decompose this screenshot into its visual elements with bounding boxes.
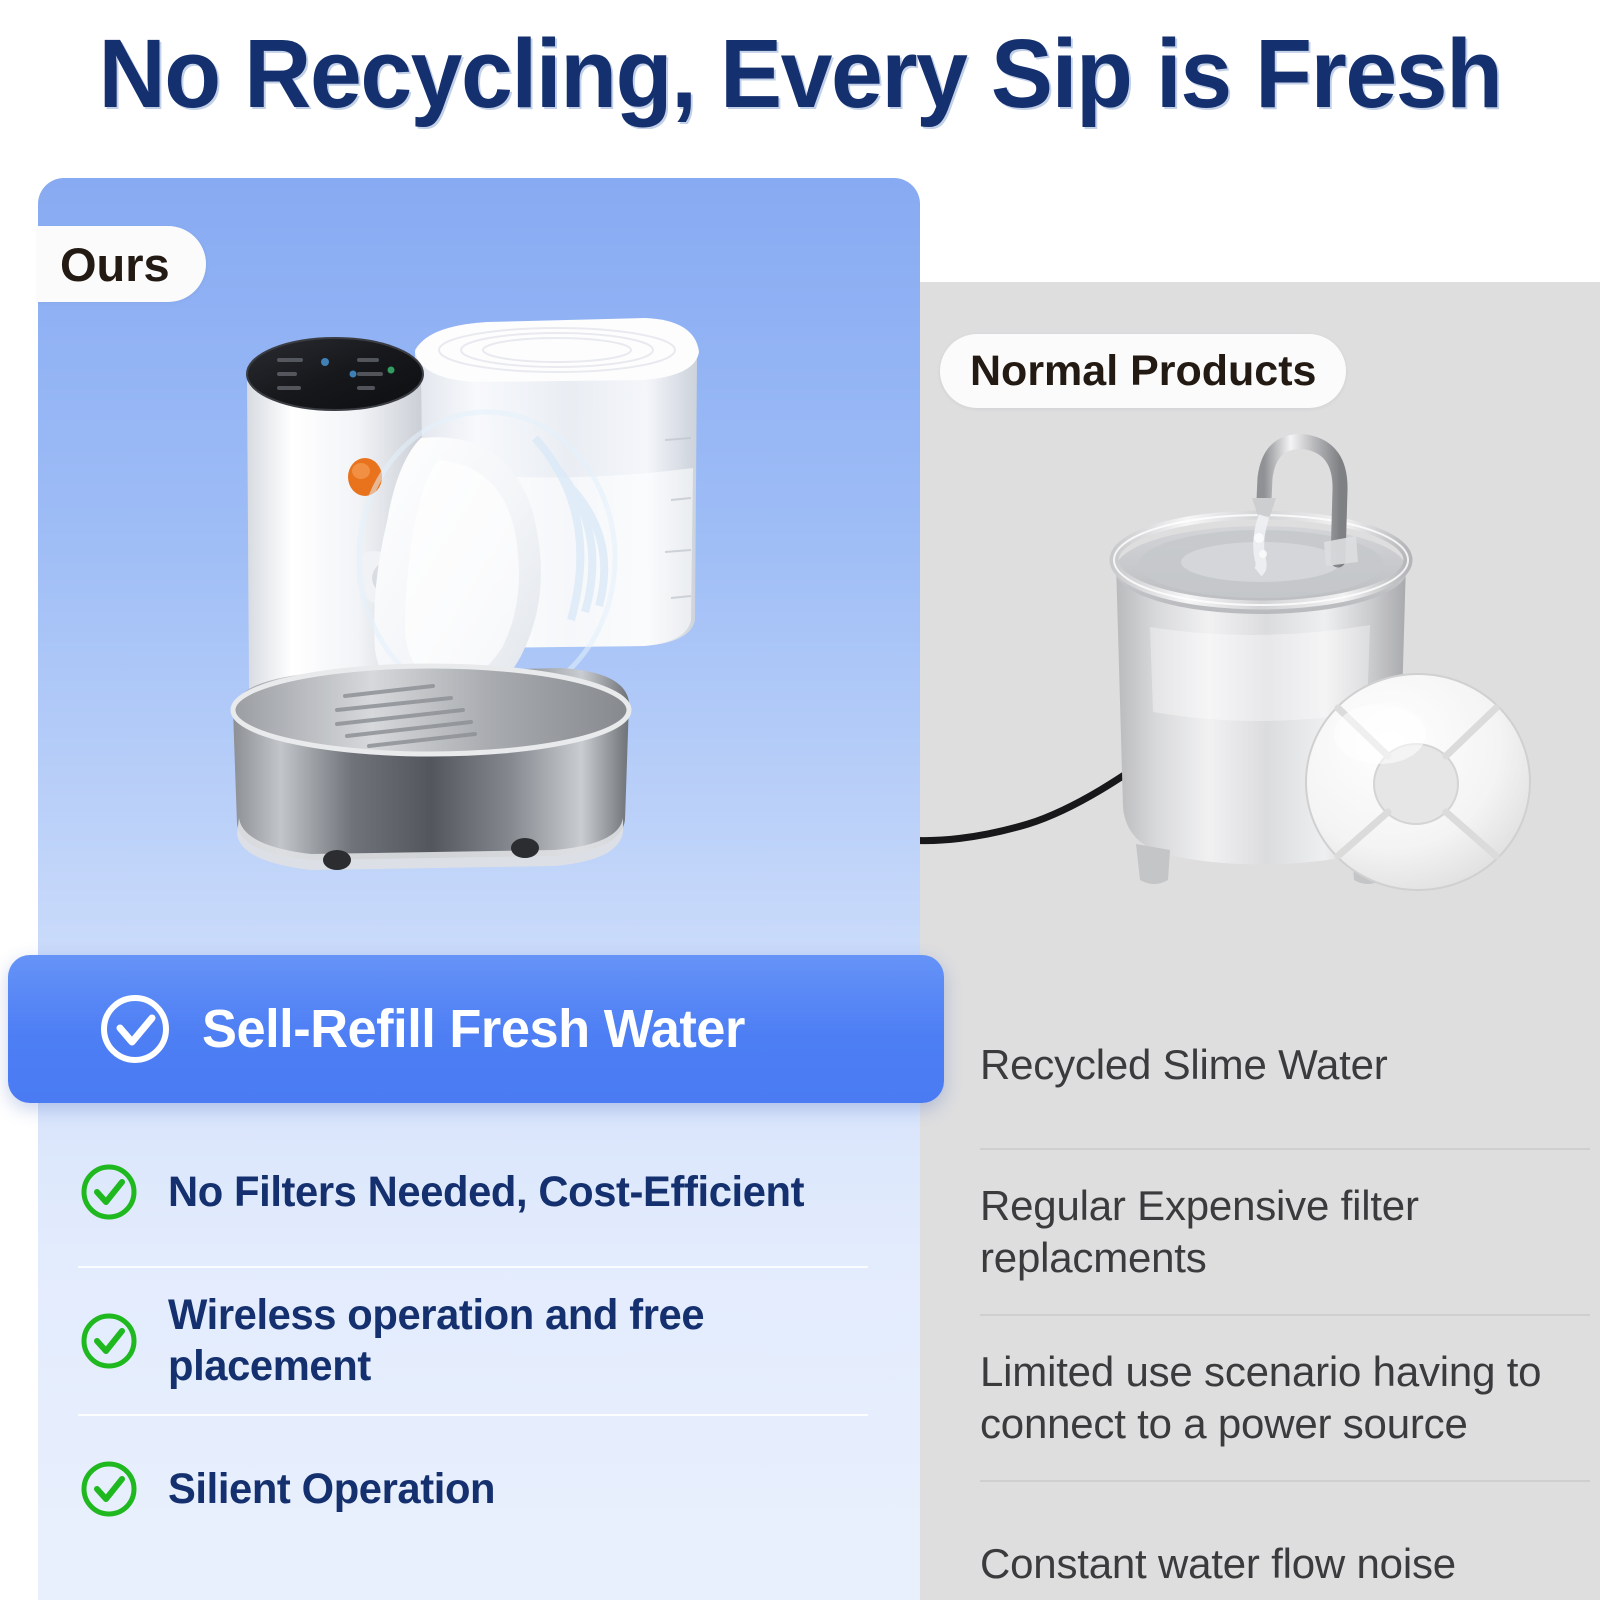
list-item: Regular Expensive filter replacments [980,1148,1590,1314]
orange-button-highlight [352,463,370,479]
ours-features-list: No Filters Needed, Cost-Efficient Wirele… [78,1118,868,1562]
feature-label: No Filters Needed, Cost-Efficient [168,1167,804,1218]
circle-check-icon [98,992,172,1066]
normal-products-badge: Normal Products [940,334,1346,408]
green-circle-check-icon [78,1161,140,1223]
replacement-filter-disc [1306,674,1530,890]
comparison-infographic: No Recycling, Every Sip is Fresh Normal … [0,0,1600,1600]
page-title: No Recycling, Every Sip is Fresh [32,18,1568,130]
list-item: Wireless operation and free placement [78,1266,868,1414]
bowl-foot [323,850,351,870]
green-circle-check-icon [78,1310,140,1372]
primary-feature-banner[interactable]: Sell-Refill Fresh Water [8,955,944,1103]
primary-feature-label: Sell-Refill Fresh Water [202,998,745,1060]
feature-label: Silient Operation [168,1464,495,1515]
drawback-label: Limited use scenario having to connect t… [980,1346,1590,1449]
bowl-foot [511,838,539,858]
ours-badge: Ours [38,226,206,302]
normal-products-badge-label: Normal Products [970,347,1316,396]
normal-drawbacks-list: Recycled Slime Water Regular Expensive f… [980,982,1590,1600]
green-circle-check-icon [78,1458,140,1520]
drawback-label: Regular Expensive filter replacments [980,1180,1590,1283]
list-item: Silient Operation [78,1414,868,1562]
water-stream [1258,516,1264,572]
ours-product-illustration [225,290,755,890]
list-item: Constant water flow noise [980,1480,1590,1600]
drawback-label: Constant water flow noise [980,1538,1456,1590]
normal-product-illustration [918,412,1600,952]
water-droplet [1259,550,1267,558]
ours-badge-label: Ours [60,237,170,292]
normal-products-panel: Normal Products [918,282,1600,1600]
drawback-label: Recycled Slime Water [980,1039,1388,1091]
feature-label: Wireless operation and free placement [168,1290,750,1391]
water-droplet [1254,533,1264,543]
bowl-foot-left [1136,844,1170,884]
list-item: No Filters Needed, Cost-Efficient [78,1118,868,1266]
list-item: Limited use scenario having to connect t… [980,1314,1590,1480]
list-item: Recycled Slime Water [980,982,1590,1148]
